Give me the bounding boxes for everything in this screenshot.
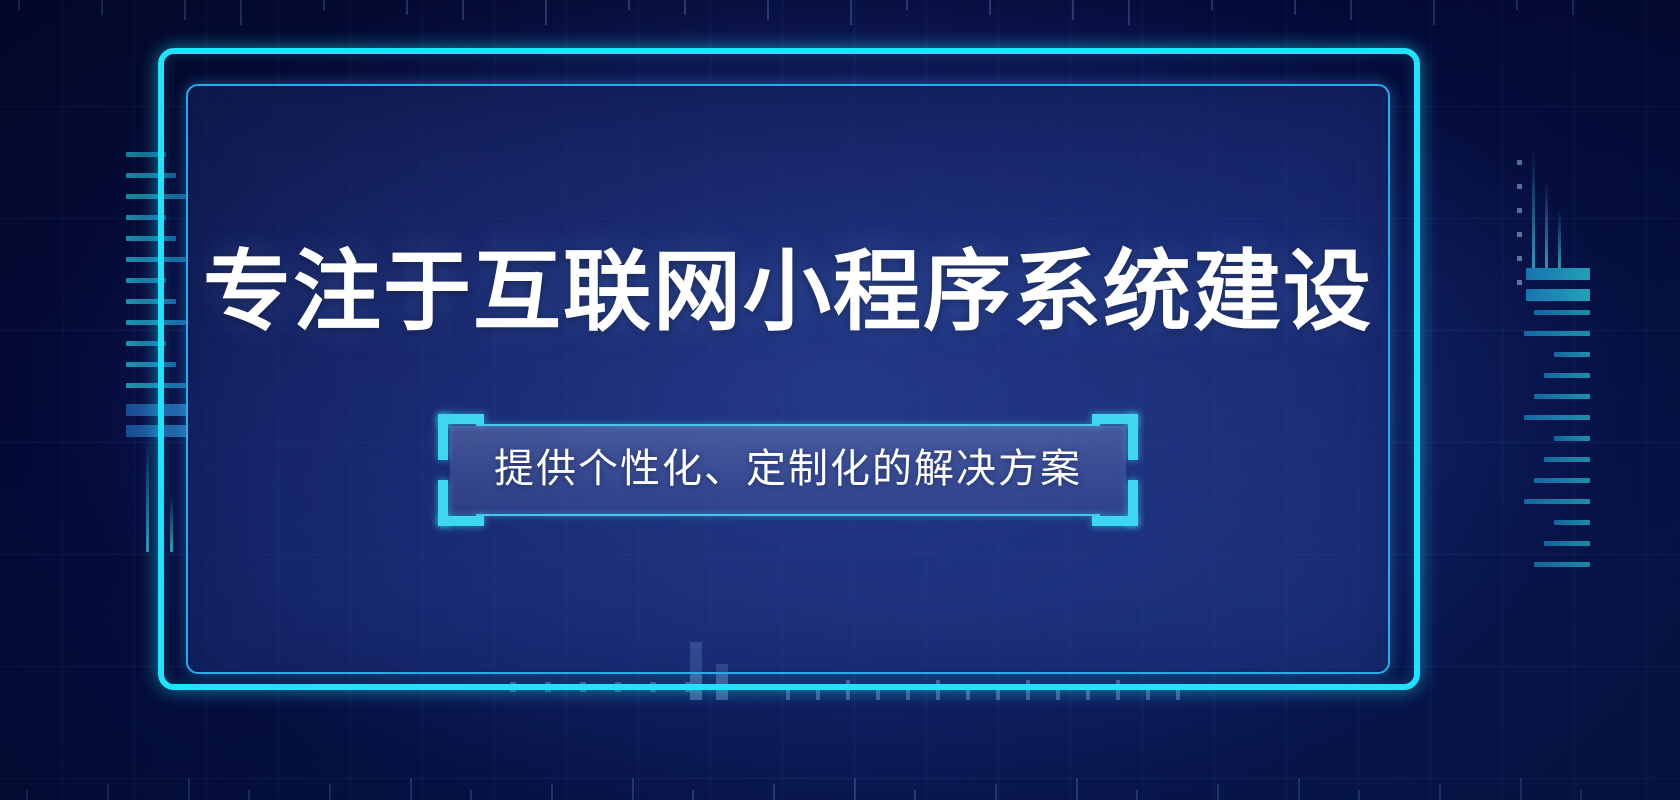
tick-mark (329, 784, 331, 800)
chart-bar (816, 684, 820, 700)
tick-mark (26, 790, 28, 800)
dot-marker (1517, 160, 1522, 165)
tick-mark (107, 784, 109, 800)
ladder-bar (126, 173, 176, 178)
tick-mark (188, 778, 190, 800)
bottom-bar-row-decoration (786, 678, 1206, 700)
ladder-bar (1526, 289, 1590, 301)
dot-marker (1517, 232, 1522, 237)
dot-marker (1517, 280, 1522, 285)
chart-bar (846, 680, 850, 700)
banner-subtitle: 提供个性化、定制化的解决方案 (494, 444, 1082, 494)
tick-mark (410, 778, 412, 800)
vertical-bar (170, 496, 173, 552)
tick-mark (184, 0, 186, 20)
subtitle-badge: 提供个性化、定制化的解决方案 (450, 426, 1126, 514)
tick-mark (767, 0, 769, 20)
dot-marker (1517, 208, 1522, 213)
ladder-bar (126, 362, 176, 367)
tick-mark (1350, 0, 1352, 20)
tick-mark (240, 0, 242, 25)
ladder-bar (126, 152, 166, 157)
ladder-bar (126, 236, 176, 241)
ladder-bar (1554, 436, 1590, 441)
ladder-bar (1524, 415, 1590, 420)
dot-marker (545, 682, 551, 692)
tick-mark (632, 778, 634, 800)
dot-marker (615, 682, 621, 692)
left-ladder-decoration (126, 152, 194, 472)
ladder-bar (1534, 310, 1590, 315)
subtitle-bottom-line (476, 514, 1100, 516)
tick-mark (1294, 0, 1296, 15)
ladder-bar (1534, 478, 1590, 483)
bottom-tick-row (0, 774, 1680, 800)
banner-headline: 专注于互联网小程序系统建设 (203, 244, 1373, 341)
chart-bar (906, 684, 910, 700)
tick-mark (1211, 0, 1213, 10)
dot-marker (510, 682, 516, 692)
tick-mark (684, 0, 686, 15)
dot-marker (1517, 256, 1522, 261)
tick-mark (692, 790, 694, 800)
chart-bar (1116, 680, 1120, 700)
ladder-bar (1544, 541, 1590, 546)
tick-mark (854, 778, 856, 800)
tick-mark (773, 784, 775, 800)
dot-marker (1517, 184, 1522, 189)
tick-mark (406, 0, 408, 15)
tick-mark (470, 790, 472, 800)
banner-stage: 专注于互联网小程序系统建设 提供个性化、定制化的解决方案 (0, 0, 1680, 800)
chart-bar (876, 688, 880, 700)
vertical-bar (1532, 150, 1535, 268)
tick-mark (1217, 784, 1219, 800)
ladder-bar (126, 257, 186, 262)
ladder-bar (1554, 352, 1590, 357)
tick-mark (989, 0, 991, 15)
dot-marker (650, 682, 656, 692)
tick-mark (1580, 790, 1582, 800)
tick-mark (906, 0, 908, 10)
subtitle-box: 提供个性化、定制化的解决方案 (450, 426, 1126, 514)
chart-bar (786, 688, 790, 700)
ladder-bar (126, 299, 176, 304)
chart-bar (1146, 688, 1150, 700)
tick-mark (1128, 0, 1130, 25)
chart-bar (966, 688, 970, 700)
tick-mark (1298, 778, 1300, 800)
dot-marker (580, 682, 586, 692)
tick-mark (545, 0, 547, 25)
ladder-bar (126, 215, 166, 220)
right-ladder-decoration (1522, 268, 1590, 598)
ladder-bar (126, 425, 188, 437)
ladder-bar (1524, 499, 1590, 504)
ladder-bar (1544, 373, 1590, 378)
tick-mark (1076, 778, 1078, 800)
ladder-bar (126, 404, 188, 416)
ladder-bar (1524, 331, 1590, 336)
tick-mark (1358, 790, 1360, 800)
chart-bar (1056, 688, 1060, 700)
ladder-bar (126, 383, 186, 388)
tick-mark (248, 790, 250, 800)
ladder-bar (126, 320, 186, 325)
chart-bar (1026, 680, 1030, 700)
tick-mark (101, 0, 103, 15)
bottom-dot-row-decoration (510, 680, 710, 692)
tick-mark (1439, 784, 1441, 800)
tick-mark (628, 0, 630, 10)
ladder-bar (1534, 562, 1590, 567)
vertical-bar (1545, 180, 1548, 268)
tick-mark (995, 784, 997, 800)
vertical-bar (158, 470, 161, 552)
top-tick-row (0, 0, 1680, 22)
ladder-bar (126, 278, 166, 283)
tick-mark (18, 0, 20, 10)
tick-mark (914, 790, 916, 800)
tick-mark (1572, 0, 1574, 15)
right-vertical-bars-decoration (1528, 148, 1568, 268)
tick-mark (1516, 0, 1518, 10)
ladder-bar (1544, 457, 1590, 462)
tick-mark (462, 0, 464, 20)
tick-mark (850, 0, 852, 25)
tick-mark (1072, 0, 1074, 20)
vertical-bar (1558, 210, 1561, 268)
vertical-bar (146, 444, 149, 552)
banner-content: 专注于互联网小程序系统建设 提供个性化、定制化的解决方案 (186, 84, 1390, 674)
ladder-bar (126, 194, 186, 199)
dot-marker (685, 682, 691, 692)
ladder-bar (1534, 394, 1590, 399)
chart-bar (1176, 684, 1180, 700)
tick-mark (323, 0, 325, 10)
chart-bar (996, 684, 1000, 700)
ladder-bar (1526, 268, 1590, 280)
left-vertical-bars-decoration (140, 440, 180, 552)
ladder-bar (1554, 520, 1590, 525)
ladder-bar (126, 341, 166, 346)
tick-mark (1433, 0, 1435, 25)
tick-mark (1136, 790, 1138, 800)
chart-bar (936, 680, 940, 700)
chart-bar (1086, 684, 1090, 700)
tick-mark (551, 784, 553, 800)
right-dot-column-decoration (1517, 160, 1523, 300)
tick-mark (1520, 778, 1522, 800)
